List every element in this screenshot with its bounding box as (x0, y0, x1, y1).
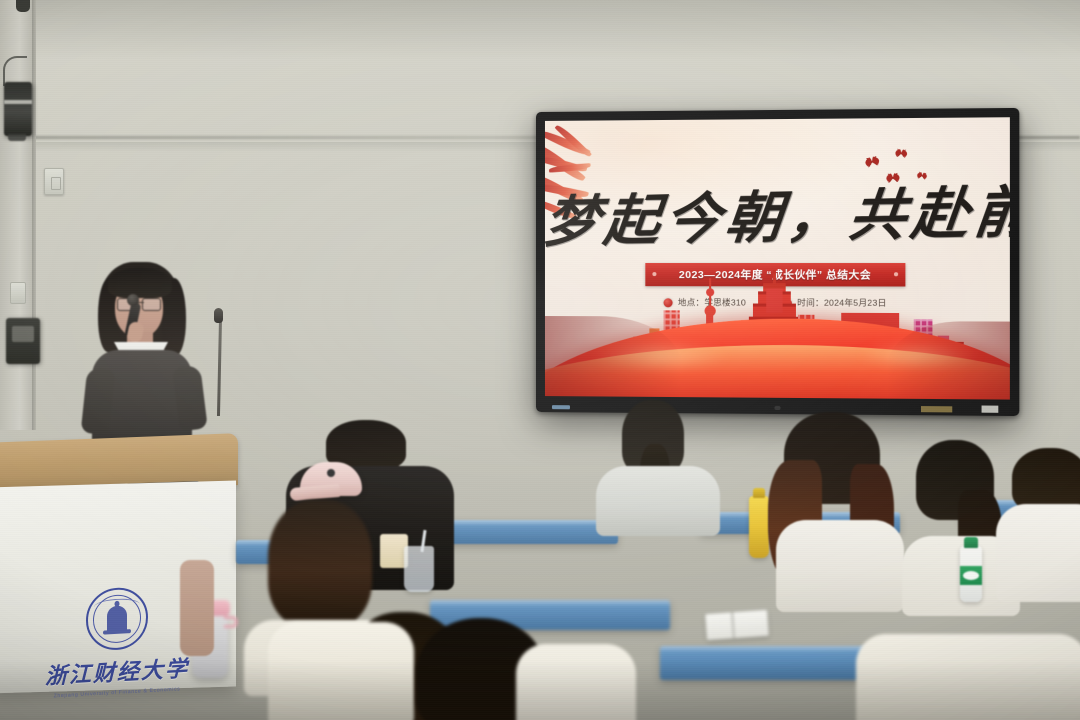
presenter (78, 262, 206, 452)
red-ribbon-graphic (545, 280, 1010, 400)
wall-device-foot (8, 134, 26, 141)
university-name-cn: 浙江财经大学 (42, 651, 192, 691)
gooseneck-microphone-head (214, 308, 223, 323)
tv-brand-badge (552, 405, 570, 409)
wall-control-panel[interactable] (6, 318, 40, 364)
tv-ir-sensor (774, 406, 780, 410)
open-notebook (705, 610, 769, 640)
wall-mounted-television[interactable]: 梦起今朝，共赴前程 2023—2024年度 “成长伙伴” 总结大会 地点：学思楼… (536, 108, 1019, 416)
presentation-slide: 梦起今朝，共赴前程 2023—2024年度 “成长伙伴” 总结大会 地点：学思楼… (545, 117, 1010, 399)
student (762, 412, 910, 592)
ceiling-shadow (0, 0, 1080, 60)
desk (428, 520, 618, 544)
student (416, 618, 626, 720)
ceiling-mount-bracket (16, 0, 30, 12)
presenter-legs (180, 560, 240, 680)
tv-label-left (921, 406, 952, 412)
student (592, 400, 724, 530)
tv-label-right (982, 406, 999, 413)
wall-column-edge (32, 0, 36, 430)
tv-bezel: 梦起今朝，共赴前程 2023—2024年度 “成长伙伴” 总结大会 地点：学思楼… (536, 108, 1019, 416)
student (856, 624, 1080, 720)
classroom-photo-scene: 梦起今朝，共赴前程 2023—2024年度 “成长伙伴” 总结大会 地点：学思楼… (0, 0, 1080, 720)
presenter-fringe (108, 268, 172, 298)
power-outlet-lower[interactable] (10, 282, 26, 304)
student (1000, 448, 1080, 598)
university-branding: 浙江财经大学 Zhejiang University of Finance & … (42, 584, 192, 712)
tv-screen[interactable]: 梦起今朝，共赴前程 2023—2024年度 “成长伙伴” 总结大会 地点：学思楼… (545, 117, 1010, 399)
power-outlet[interactable] (44, 168, 64, 195)
slide-headline: 梦起今朝，共赴前程 (545, 166, 1010, 257)
green-label-bottle (960, 546, 982, 602)
wall-device-stripe (4, 100, 32, 104)
clear-cup-with-straw (404, 546, 434, 592)
wall-mounted-device (4, 82, 32, 136)
university-crest-icon (86, 586, 148, 651)
